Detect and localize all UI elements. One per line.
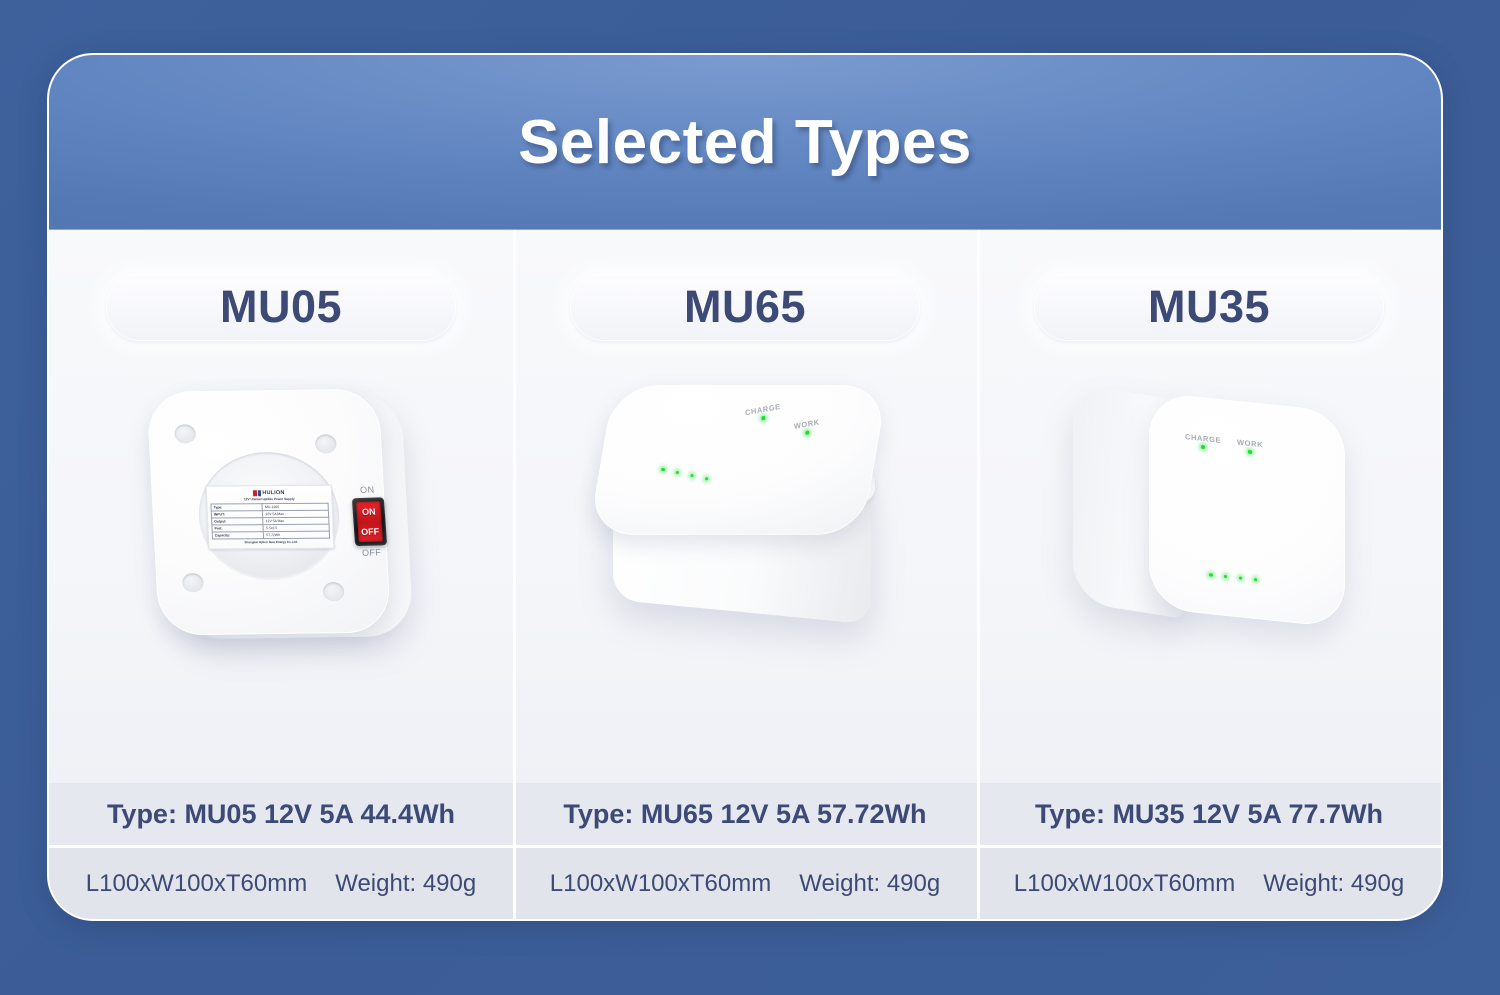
- switch-off-text: OFF: [361, 527, 380, 537]
- rubber-foot-icon: [315, 434, 337, 453]
- product-column-mu35[interactable]: MU35 CHARGE WORK: [977, 230, 1441, 919]
- rubber-foot-icon: [323, 582, 345, 601]
- work-indicator: WORK: [1237, 438, 1263, 455]
- spec-main-row-mu65: Type: MU65 12V 5A 57.72Wh: [513, 783, 977, 845]
- products-row: MU05 HULIO: [49, 230, 1441, 919]
- device-top-lid: [588, 385, 887, 534]
- product-image-mu35: CHARGE WORK: [977, 346, 1441, 746]
- device-mu05-back-view: HULION 12V Uninterruptible Power Supply …: [146, 388, 409, 641]
- spec-main-row-mu05: Type: MU05 12V 5A 44.4Wh: [49, 783, 513, 845]
- switch-off-caption: OFF: [351, 547, 392, 559]
- spec-dimensions-text: L100xW100xT60mm: [86, 870, 307, 898]
- card-header: Selected Types: [49, 55, 1441, 230]
- model-name-label: MU05: [220, 281, 342, 333]
- rubber-foot-icon: [182, 573, 204, 592]
- sticker-subtitle: 12V Uninterruptible Power Supply: [213, 497, 325, 503]
- model-name-label: MU35: [1148, 281, 1270, 333]
- work-led-icon: [1248, 450, 1252, 454]
- spec-dimensions-text: L100xW100xT60mm: [550, 870, 771, 898]
- sticker-value: 57.72Wh: [264, 531, 330, 538]
- model-pill-mu35[interactable]: MU35: [1035, 274, 1383, 340]
- product-image-mu65: CHARGE WORK: [513, 346, 977, 746]
- brand-mark-icon: [253, 490, 257, 496]
- model-pill-mu65[interactable]: MU65: [571, 274, 919, 340]
- battery-led-icon: [705, 476, 709, 480]
- device-mu35-front-view: CHARGE WORK: [1067, 380, 1357, 650]
- sticker-spec-table: Type: MU-1205 INPUT: 12V 5A Max Output: …: [210, 503, 330, 540]
- spec-weight-text: Weight: 490g: [1263, 870, 1404, 898]
- rocker-switch-icon[interactable]: ON OFF: [352, 497, 387, 546]
- spec-type-text: Type: MU05 12V 5A 44.4Wh: [107, 799, 455, 830]
- spec-weight-text: Weight: 490g: [799, 870, 940, 898]
- sticker-key: Capacity:: [212, 532, 264, 539]
- product-column-mu65[interactable]: MU65 CHARGE WORK: [513, 230, 977, 919]
- power-switch[interactable]: ON ON OFF OFF: [347, 484, 392, 559]
- model-name-label: MU65: [684, 281, 806, 333]
- switch-on-text: ON: [362, 507, 376, 516]
- battery-led-icon: [690, 473, 694, 477]
- product-column-mu05[interactable]: MU05 HULIO: [49, 230, 513, 919]
- battery-led-icon: [1254, 577, 1258, 581]
- spec-type-text: Type: MU65 12V 5A 57.72Wh: [563, 799, 926, 830]
- spec-sub-row-mu65: L100xW100xT60mm Weight: 490g: [513, 845, 977, 919]
- spec-weight-text: Weight: 490g: [335, 870, 476, 898]
- charge-led-icon: [1201, 445, 1205, 449]
- spec-sub-row-mu05: L100xW100xT60mm Weight: 490g: [49, 845, 513, 919]
- spec-main-row-mu35: Type: MU35 12V 5A 77.7Wh: [977, 783, 1441, 845]
- battery-led-icon: [1239, 576, 1243, 580]
- product-image-mu05: HULION 12V Uninterruptible Power Supply …: [49, 346, 513, 746]
- charge-led-icon: [762, 416, 766, 420]
- brand-name: HULION: [262, 490, 285, 496]
- rubber-foot-icon: [174, 424, 196, 443]
- page-title: Selected Types: [518, 107, 972, 178]
- work-label: WORK: [1237, 438, 1263, 450]
- table-row: Capacity: 57.72Wh: [212, 531, 329, 539]
- device-back-face: HULION 12V Uninterruptible Power Supply …: [146, 389, 391, 636]
- battery-led-icon: [661, 467, 665, 471]
- battery-led-icon: [1224, 574, 1228, 578]
- brand-mark-icon: [258, 490, 261, 496]
- sticker-manufacturer: Shanghai Hylion New Energy Co.,Ltd.: [212, 539, 330, 545]
- model-pill-mu05[interactable]: MU05: [107, 274, 455, 340]
- work-led-icon: [806, 430, 810, 434]
- switch-on-caption: ON: [347, 484, 388, 496]
- battery-led-icon: [1209, 573, 1213, 577]
- battery-led-icon: [675, 470, 679, 474]
- device-front-face: [1149, 392, 1345, 629]
- selected-types-card: Selected Types MU05: [47, 53, 1443, 921]
- spec-dimensions-text: L100xW100xT60mm: [1014, 870, 1235, 898]
- device-mu65-top-view: CHARGE WORK: [593, 374, 893, 634]
- spec-sub-row-mu35: L100xW100xT60mm Weight: 490g: [977, 845, 1441, 919]
- spec-sticker: HULION 12V Uninterruptible Power Supply …: [206, 485, 335, 550]
- spec-type-text: Type: MU35 12V 5A 77.7Wh: [1035, 799, 1383, 830]
